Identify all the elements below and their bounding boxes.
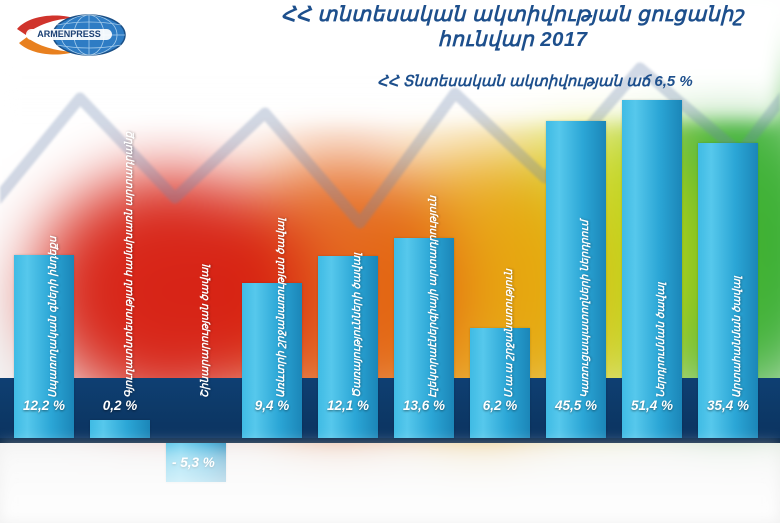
bar-value-5: 13,6 %	[394, 398, 454, 413]
bar-value-3: 9,4 %	[242, 398, 302, 413]
bar-value-8: 51,4 %	[622, 398, 682, 413]
bar-7[interactable]	[546, 121, 606, 438]
infographic-canvas: ARMENPRESS ՀՀ տնտեսական ակտիվության ցուց…	[0, 0, 780, 523]
bar-value-6: 6,2 %	[470, 398, 530, 413]
chart-baseline	[0, 438, 780, 443]
bar-8[interactable]	[622, 100, 682, 438]
bar-value-4: 12,1 %	[318, 398, 378, 413]
bar-6[interactable]	[470, 328, 530, 438]
chart-plot-area: Սպառողական գների ինդեքս 12,2 % Գյուղատնտ…	[0, 0, 780, 523]
bar-value-7: 45,5 %	[546, 398, 606, 413]
bar-value-1: 0,2 %	[90, 398, 150, 413]
bar-value-9: 35,4 %	[698, 398, 758, 413]
bar-9[interactable]	[698, 143, 758, 438]
bar-1[interactable]	[90, 420, 150, 438]
bar-value-0: 12,2 %	[14, 398, 74, 413]
bar-3[interactable]	[242, 283, 302, 438]
bar-value-2: - 5,3 %	[172, 455, 215, 470]
bar-label-1: Գյուղատնտեսության համախառն արտադրանք	[123, 132, 135, 398]
